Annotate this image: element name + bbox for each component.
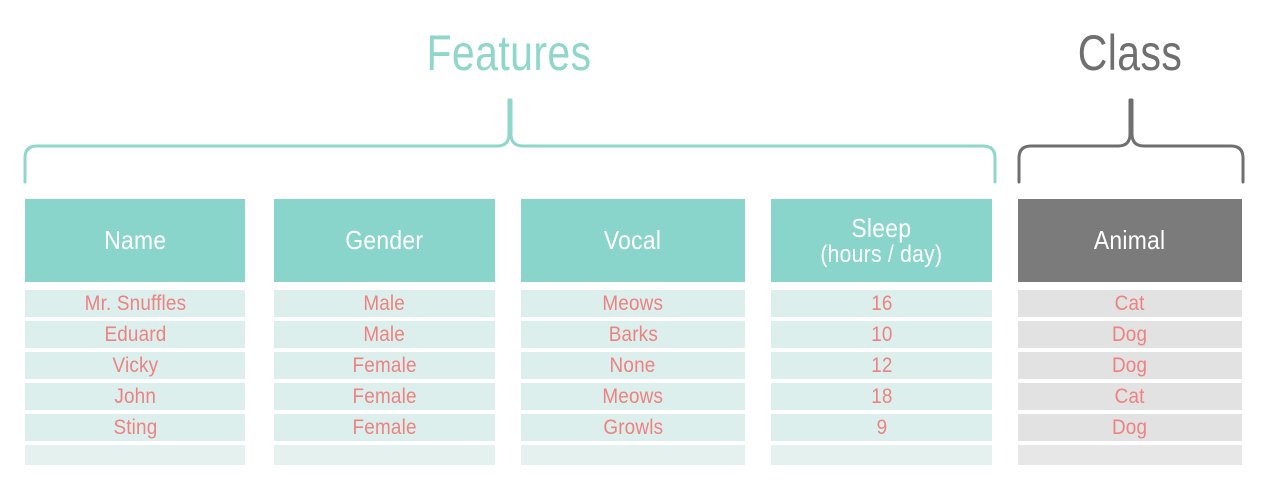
dataset-diagram: Features Class NameMr. SnufflesEduardVic…	[0, 0, 1266, 499]
cell-value: John	[114, 385, 156, 409]
table-cell[interactable]: Dog	[1018, 321, 1242, 348]
cell-value: None	[610, 354, 656, 378]
table-cell[interactable]: Sting	[25, 414, 245, 441]
column-header-label: Gender	[346, 226, 424, 254]
table-cell[interactable]: Growls	[521, 414, 745, 441]
table-cell[interactable]: Dog	[1018, 352, 1242, 379]
column-header-animal[interactable]: Animal	[1018, 199, 1242, 282]
table-cell[interactable]: Mr. Snuffles	[25, 290, 245, 317]
column-body-sleep: 161012189	[771, 290, 992, 465]
cell-value: 10	[871, 323, 892, 347]
cell-value: 18	[871, 385, 892, 409]
column-header-label: Animal	[1094, 226, 1166, 254]
column-header-gender[interactable]: Gender	[274, 199, 495, 282]
column-body-animal: CatDogDogCatDog	[1018, 290, 1242, 465]
class-group-label: Class	[1078, 28, 1183, 78]
features-group-label: Features	[426, 28, 591, 78]
table-cell[interactable]: Dog	[1018, 414, 1242, 441]
table-column-gender: GenderMaleMaleFemaleFemaleFemale	[274, 199, 495, 465]
table-cell[interactable]: 10	[771, 321, 992, 348]
table-cell[interactable]: None	[521, 352, 745, 379]
cell-value: Female	[352, 416, 416, 440]
cell-value: Meows	[603, 385, 664, 409]
table-cell[interactable]: Cat	[1018, 383, 1242, 410]
table-cell[interactable]: John	[25, 383, 245, 410]
table-cell[interactable]: 12	[771, 352, 992, 379]
table-cell[interactable]: Female	[274, 383, 495, 410]
table-cell[interactable]: Meows	[521, 290, 745, 317]
cell-value: Eduard	[104, 323, 166, 347]
cell-value: Sting	[113, 416, 157, 440]
column-header-label: Vocal	[604, 226, 661, 254]
table-row-placeholder	[771, 445, 992, 465]
table-cell[interactable]: Cat	[1018, 290, 1242, 317]
cell-value: Vicky	[112, 354, 158, 378]
table-column-vocal: VocalMeowsBarksNoneMeowsGrowls	[521, 199, 745, 465]
table-cell[interactable]: Eduard	[25, 321, 245, 348]
cell-value: Growls	[603, 416, 663, 440]
column-header-sublabel: (hours / day)	[821, 242, 943, 268]
table-cell[interactable]: Meows	[521, 383, 745, 410]
cell-value: Mr. Snuffles	[84, 292, 186, 316]
table-cell[interactable]: Vicky	[25, 352, 245, 379]
table-cell[interactable]: 9	[771, 414, 992, 441]
table-cell[interactable]: Female	[274, 352, 495, 379]
table-cell[interactable]: Male	[274, 321, 495, 348]
cell-value: Cat	[1115, 385, 1145, 409]
dataset-table: NameMr. SnufflesEduardVickyJohnStingGend…	[0, 199, 1266, 471]
table-column-name: NameMr. SnufflesEduardVickyJohnSting	[25, 199, 245, 465]
table-cell[interactable]: Female	[274, 414, 495, 441]
table-row-placeholder	[274, 445, 495, 465]
class-brace-icon	[1012, 96, 1250, 182]
cell-value: Male	[364, 292, 406, 316]
column-header-label: Sleep	[821, 214, 943, 242]
column-body-name: Mr. SnufflesEduardVickyJohnSting	[25, 290, 245, 465]
table-row-placeholder	[1018, 445, 1242, 465]
table-row-placeholder	[25, 445, 245, 465]
table-column-sleep: Sleep(hours / day)161012189	[771, 199, 992, 465]
cell-value: Barks	[608, 323, 657, 347]
table-row-placeholder	[521, 445, 745, 465]
cell-value: Dog	[1112, 416, 1147, 440]
column-header-vocal[interactable]: Vocal	[521, 199, 745, 282]
table-cell[interactable]: Male	[274, 290, 495, 317]
table-column-animal: AnimalCatDogDogCatDog	[1018, 199, 1242, 465]
column-body-vocal: MeowsBarksNoneMeowsGrowls	[521, 290, 745, 465]
cell-value: Meows	[603, 292, 664, 316]
table-cell[interactable]: 18	[771, 383, 992, 410]
cell-value: 12	[871, 354, 892, 378]
features-brace-icon	[18, 96, 1002, 182]
table-cell[interactable]: Barks	[521, 321, 745, 348]
column-header-sleep[interactable]: Sleep(hours / day)	[771, 199, 992, 282]
column-body-gender: MaleMaleFemaleFemaleFemale	[274, 290, 495, 465]
cell-value: Dog	[1112, 354, 1147, 378]
cell-value: Cat	[1115, 292, 1145, 316]
cell-value: Dog	[1112, 323, 1147, 347]
cell-value: Female	[352, 385, 416, 409]
column-header-label: Name	[104, 226, 166, 254]
cell-value: 16	[871, 292, 892, 316]
column-header-name[interactable]: Name	[25, 199, 245, 282]
table-cell[interactable]: 16	[771, 290, 992, 317]
cell-value: 9	[876, 416, 887, 440]
cell-value: Female	[352, 354, 416, 378]
cell-value: Male	[364, 323, 406, 347]
